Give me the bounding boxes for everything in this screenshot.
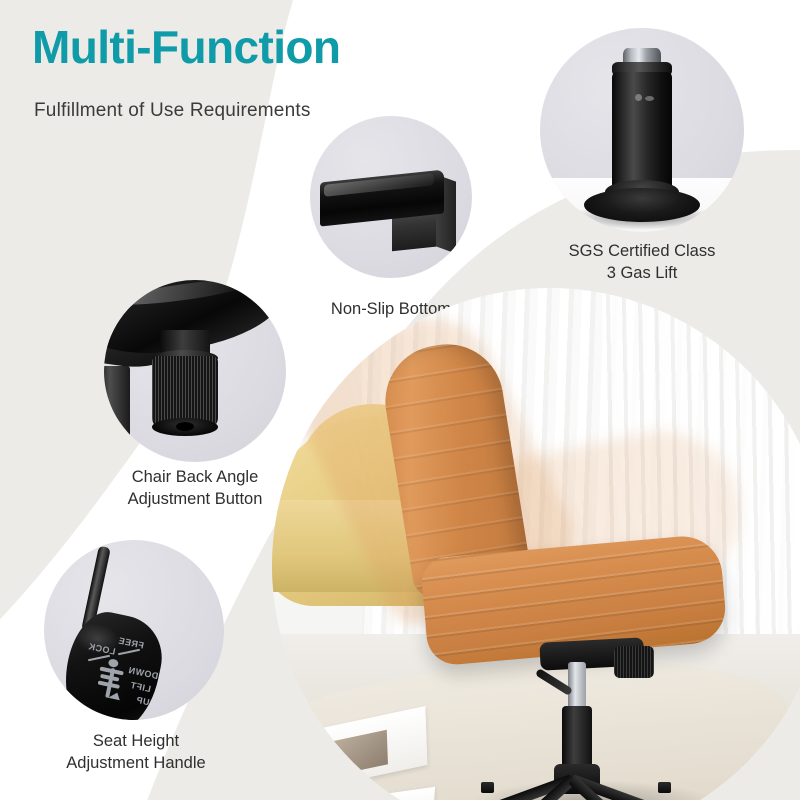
seat-height-caption: Seat Height Adjustment Handle xyxy=(36,730,236,775)
seat-height-caption-line1: Seat Height xyxy=(36,730,236,752)
knurled-adjustment-knob-icon xyxy=(104,280,286,462)
product-photo xyxy=(272,288,800,800)
page-subtitle: Fulfillment of Use Requirements xyxy=(34,100,311,122)
chair-foot-pad xyxy=(658,782,671,793)
back-angle-caption-line2: Adjustment Button xyxy=(90,488,300,510)
non-slip-foot-pad-icon xyxy=(310,116,472,278)
gas-lift-cylinder-icon xyxy=(540,28,744,232)
chair-tension-knob xyxy=(614,646,654,678)
seat-height-bubble: LOCK FREE DOWN LIFT UP xyxy=(44,540,224,720)
page-title: Multi-Function xyxy=(32,24,340,70)
back-angle-caption: Chair Back Angle Adjustment Button xyxy=(90,466,300,511)
gas-lift-caption-line2: 3 Gas Lift xyxy=(525,262,759,284)
back-angle-bubble xyxy=(104,280,286,462)
seat-height-caption-line2: Adjustment Handle xyxy=(36,752,236,774)
back-angle-caption-line1: Chair Back Angle xyxy=(90,466,300,488)
paddle-lever-handle-icon: LOCK FREE DOWN LIFT UP xyxy=(44,540,224,720)
infographic-canvas: Multi-Function Fulfillment of Use Requir… xyxy=(0,0,800,800)
gas-lift-caption: SGS Certified Class 3 Gas Lift xyxy=(525,240,759,285)
chair-foot-pad xyxy=(481,782,494,793)
gas-lift-caption-line1: SGS Certified Class xyxy=(525,240,759,262)
gas-lift-bubble xyxy=(540,28,744,232)
non-slip-bubble xyxy=(310,116,472,278)
